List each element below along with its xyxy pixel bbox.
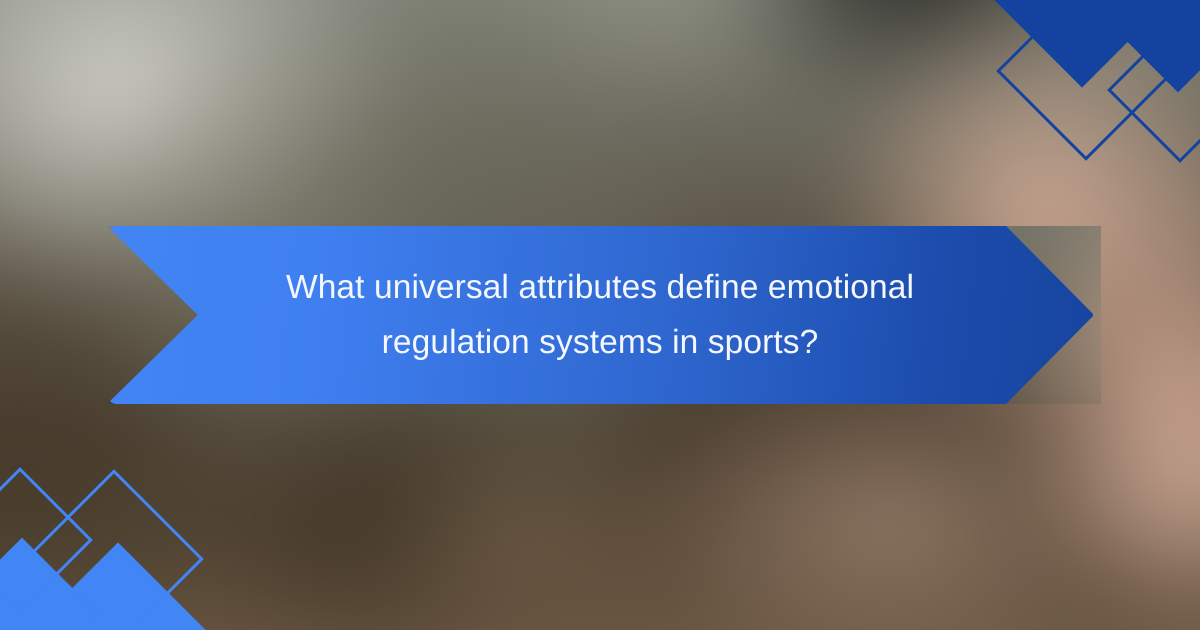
question-line-1: What universal attributes define emotion… (190, 260, 1010, 315)
question-line-2: regulation systems in sports? (190, 315, 1010, 370)
question-banner: What universal attributes define emotion… (107, 226, 1093, 404)
share-card: What universal attributes define emotion… (0, 0, 1200, 630)
question-text: What universal attributes define emotion… (190, 260, 1010, 370)
